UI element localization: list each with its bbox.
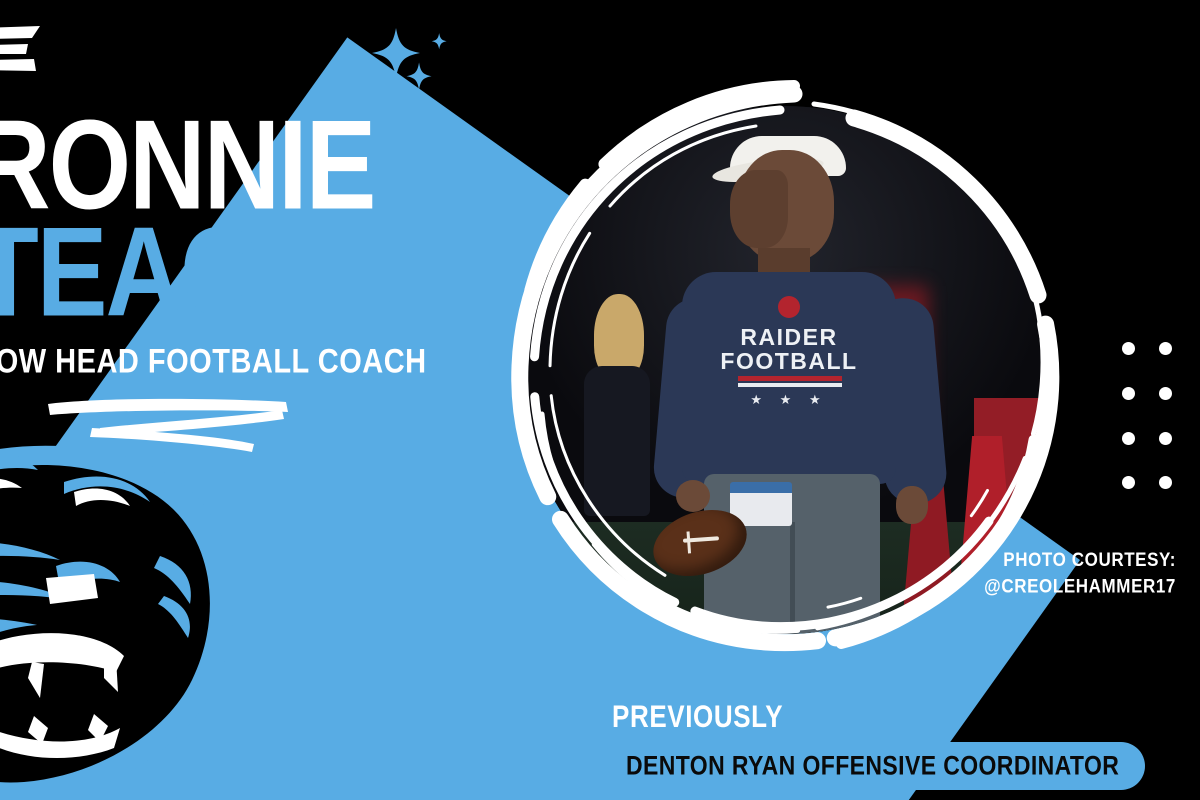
coach-figure: RAIDER FOOTBALL ★ ★ ★ xyxy=(646,130,946,630)
sparkles-icon xyxy=(366,22,462,106)
sweatshirt-stars: ★ ★ ★ xyxy=(646,392,932,408)
previous-role-badge: DENTON RYAN OFFENSIVE COORDINATOR xyxy=(600,742,1145,790)
brush-underline-icon xyxy=(42,392,342,454)
previously-label: PREVIOUSLY xyxy=(612,698,783,735)
courtesy-label: PHOTO COURTESY: xyxy=(984,548,1176,574)
previous-role-text: DENTON RYAN OFFENSIVE COORDINATOR xyxy=(626,750,1119,782)
graphic-canvas: RONNIE TEAGLE TOW HEAD FOOTBALL COACH xyxy=(0,0,1200,800)
role-subtitle: TOW HEAD FOOTBALL COACH xyxy=(0,343,427,382)
photo-image: RAIDER FOOTBALL ★ ★ ★ xyxy=(520,106,1048,634)
last-name: TEAGLE xyxy=(0,219,504,328)
courtesy-handle: @CREOLEHAMMER17 xyxy=(984,574,1176,600)
sweatshirt-line-1: RAIDER xyxy=(646,326,932,350)
panther-head-logo xyxy=(0,436,288,800)
sweatshirt-line-2: FOOTBALL xyxy=(646,350,932,374)
photo-courtesy: PHOTO COURTESY: @CREOLEHAMMER17 xyxy=(984,548,1176,600)
headline-block: RONNIE TEAGLE xyxy=(0,112,494,309)
dot-grid-decoration xyxy=(1122,342,1194,500)
brand-wordmark-icon xyxy=(0,26,54,72)
